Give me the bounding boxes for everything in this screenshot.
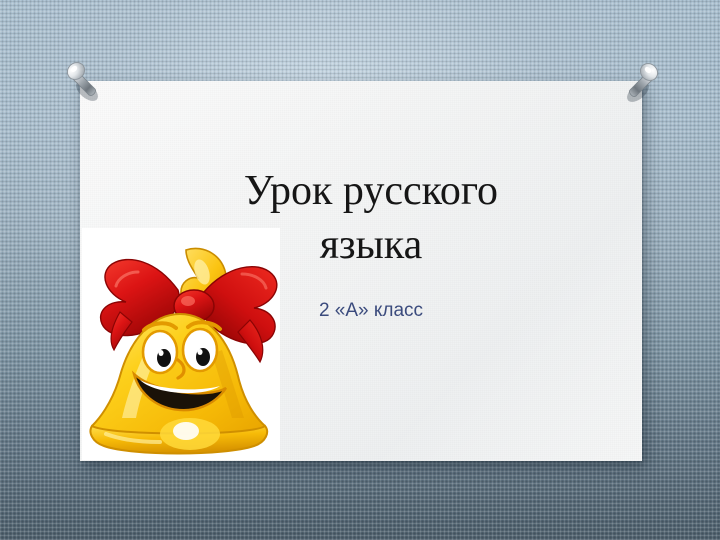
- presentation-slide: Урок русского языка 2 «А» класс: [0, 0, 720, 540]
- subtitle-container: 2 «А» класс: [196, 300, 546, 322]
- slide-subtitle: 2 «А» класс: [196, 300, 546, 322]
- bell-clapper-highlight: [160, 418, 220, 450]
- pushpin-right-icon: [616, 60, 662, 106]
- page-title: Урок русского языка: [196, 165, 546, 273]
- pushpin-left-icon: [63, 59, 109, 105]
- title-container: Урок русского языка: [196, 165, 546, 273]
